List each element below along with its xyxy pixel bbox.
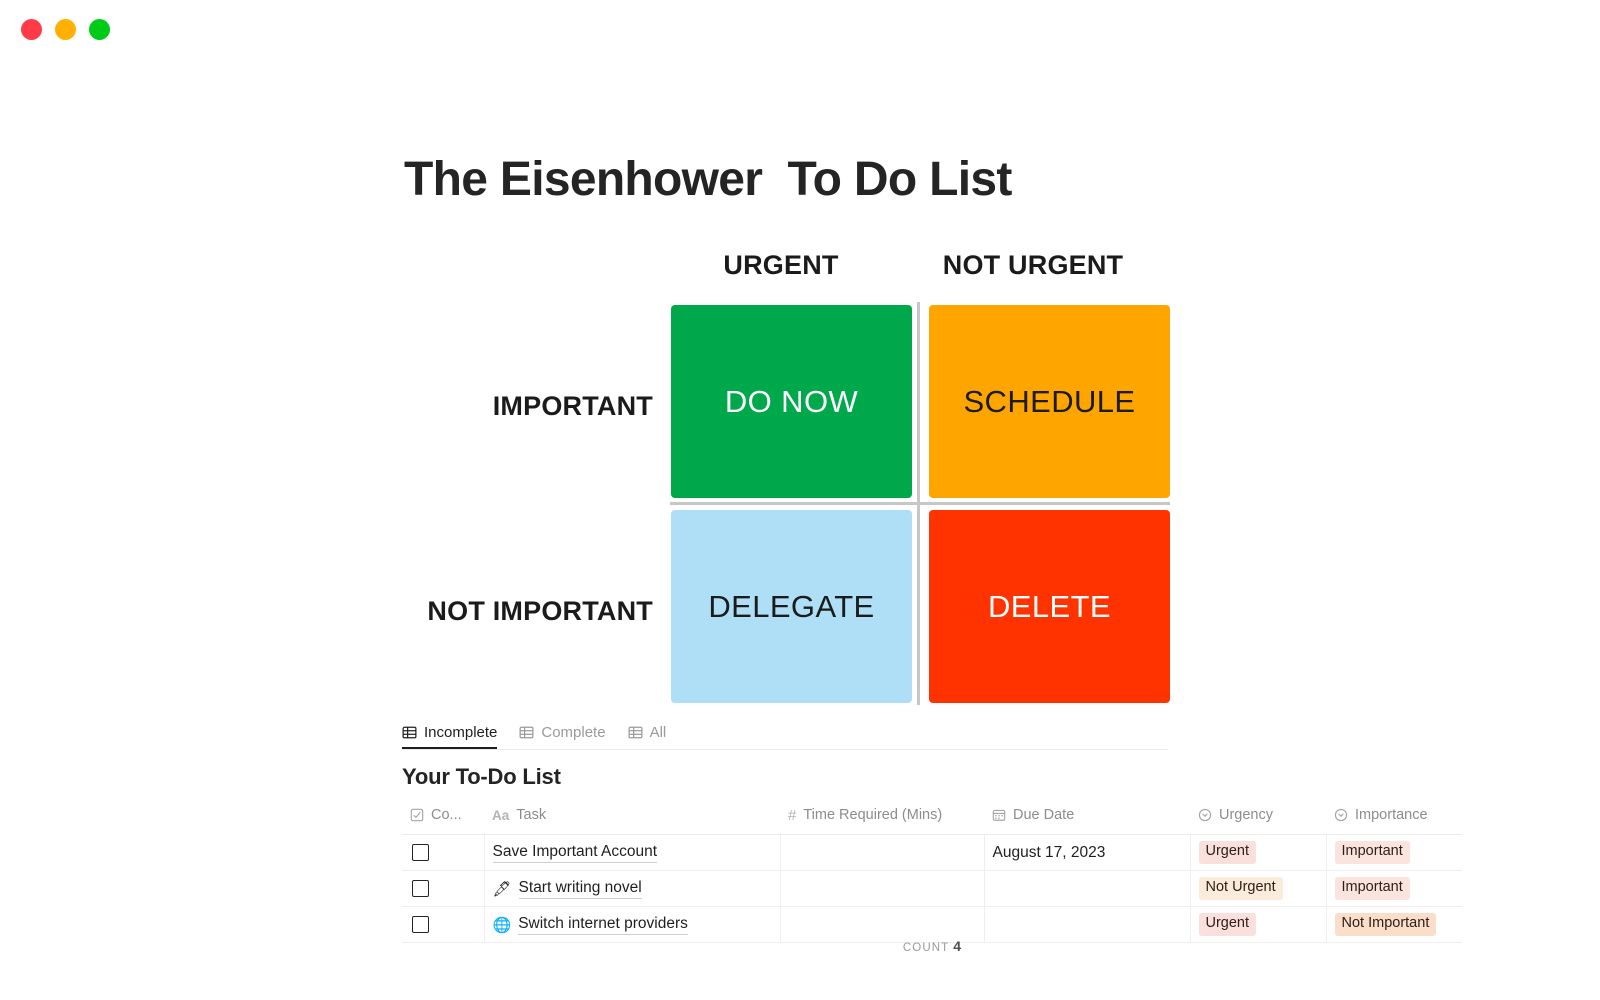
- cell-urgency[interactable]: Not Urgent: [1190, 871, 1326, 907]
- quadrant-schedule[interactable]: SCHEDULE: [929, 305, 1170, 498]
- task-title[interactable]: Save Important Account: [493, 842, 658, 862]
- cell-task[interactable]: 🖋Start writing novel: [484, 871, 780, 907]
- column-header-label: Due Date: [1013, 807, 1074, 823]
- column-header-label: Co...: [431, 807, 462, 823]
- row-complete-checkbox[interactable]: [412, 880, 429, 897]
- cell-task[interactable]: Save Important Account: [484, 835, 780, 871]
- cell-importance[interactable]: Important: [1326, 871, 1462, 907]
- select-circle-icon: [1334, 808, 1348, 822]
- urgency-tag: Not Urgent: [1199, 877, 1283, 899]
- cell-time-required[interactable]: [780, 835, 984, 871]
- page-title: The Eisenhower To Do List: [404, 152, 1012, 207]
- quadrant-do-now[interactable]: DO NOW: [671, 305, 912, 498]
- cell-due-date[interactable]: [984, 871, 1190, 907]
- count-label: COUNT: [903, 942, 949, 954]
- table-icon: [628, 725, 643, 740]
- task-title[interactable]: Start writing novel: [519, 878, 642, 898]
- number-hash-icon: #: [788, 807, 796, 824]
- list-title: Your To-Do List: [402, 764, 561, 790]
- matrix-column-header-not-urgent: NOT URGENT: [897, 250, 1169, 281]
- matrix-row-header-not-important: NOT IMPORTANT: [388, 596, 653, 627]
- tab-label: All: [650, 724, 667, 741]
- importance-tag: Important: [1335, 841, 1410, 863]
- row-complete-checkbox[interactable]: [412, 844, 429, 861]
- table-row: Save Important AccountAugust 17, 2023Urg…: [402, 835, 1462, 871]
- matrix-column-header-urgent: URGENT: [671, 250, 891, 281]
- text-aa-icon: Aa: [492, 808, 509, 823]
- task-emoji-icon: 🌐: [493, 916, 512, 934]
- importance-tag: Important: [1335, 877, 1410, 899]
- table-body: Save Important AccountAugust 17, 2023Urg…: [402, 835, 1462, 943]
- quadrant-delete[interactable]: DELETE: [929, 510, 1170, 703]
- tab-label: Incomplete: [424, 724, 497, 741]
- checkbox-icon: [410, 808, 424, 822]
- column-header-urgency[interactable]: Urgency: [1190, 802, 1326, 835]
- calendar-icon: [992, 808, 1006, 822]
- task-title[interactable]: Switch internet providers: [518, 914, 688, 934]
- cell-complete: [402, 835, 484, 871]
- view-tabs[interactable]: Incomplete Complete: [402, 715, 1168, 750]
- column-header-label: Importance: [1355, 807, 1428, 823]
- column-header-label: Time Required (Mins): [803, 807, 942, 823]
- column-header-due-date[interactable]: Due Date: [984, 802, 1190, 835]
- column-header-importance[interactable]: Importance: [1326, 802, 1462, 835]
- urgency-tag: Urgent: [1199, 913, 1257, 935]
- table-icon: [519, 725, 534, 740]
- matrix-row-header-important: IMPORTANT: [388, 391, 653, 422]
- column-header-label: Task: [516, 807, 546, 823]
- select-circle-icon: [1198, 808, 1212, 822]
- column-header-complete[interactable]: Co...: [402, 802, 484, 835]
- cell-urgency[interactable]: Urgent: [1190, 835, 1326, 871]
- importance-tag: Not Important: [1335, 913, 1437, 935]
- table-icon: [402, 725, 417, 740]
- page-content: The Eisenhower To Do List URGENT NOT URG…: [0, 0, 1600, 1000]
- matrix-horizontal-divider: [670, 502, 1170, 505]
- cell-due-date[interactable]: August 17, 2023: [984, 835, 1190, 871]
- tab-all[interactable]: All: [628, 724, 667, 749]
- table-row: 🖋Start writing novelNot UrgentImportant: [402, 871, 1462, 907]
- column-header-time-required[interactable]: # Time Required (Mins): [780, 802, 984, 835]
- row-complete-checkbox[interactable]: [412, 916, 429, 933]
- cell-importance[interactable]: Important: [1326, 835, 1462, 871]
- quadrant-delegate[interactable]: DELEGATE: [671, 510, 912, 703]
- urgency-tag: Urgent: [1199, 841, 1257, 863]
- eisenhower-matrix: URGENT NOT URGENT IMPORTANT NOT IMPORTAN…: [388, 240, 1178, 705]
- table-header-row: Co... Aa Task # Time Required (Mins): [402, 802, 1462, 835]
- column-header-label: Urgency: [1219, 807, 1273, 823]
- count-value: 4: [953, 938, 961, 954]
- row-count: COUNT4: [402, 938, 1462, 954]
- todo-table: Co... Aa Task # Time Required (Mins): [402, 802, 1462, 943]
- tab-incomplete[interactable]: Incomplete: [402, 724, 497, 749]
- column-header-task[interactable]: Aa Task: [484, 802, 780, 835]
- tab-label: Complete: [541, 724, 605, 741]
- tab-complete[interactable]: Complete: [519, 724, 605, 749]
- cell-time-required[interactable]: [780, 871, 984, 907]
- cell-complete: [402, 871, 484, 907]
- task-emoji-icon: 🖋: [493, 880, 512, 898]
